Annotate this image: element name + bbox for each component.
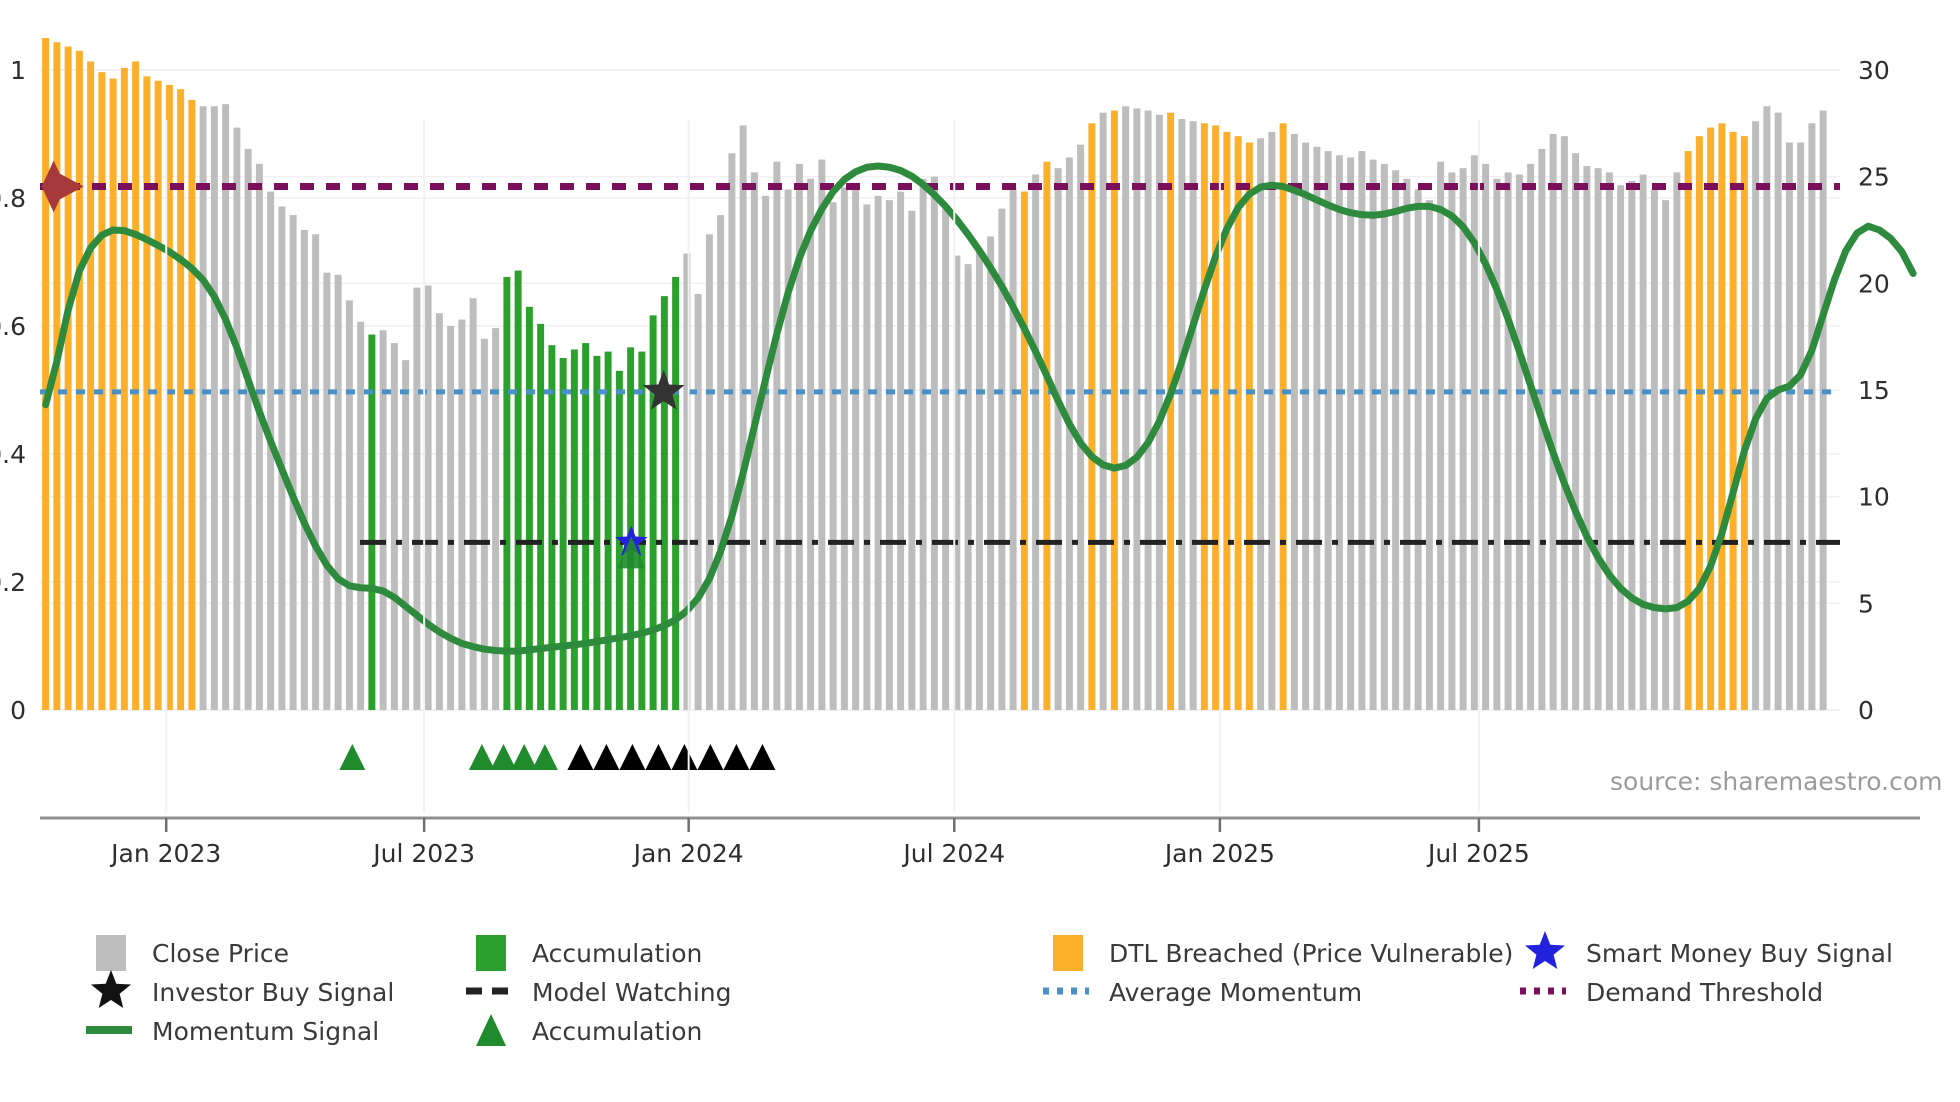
- table-row: [1212, 125, 1219, 710]
- table-row: [965, 264, 972, 710]
- price-bar: [1786, 143, 1793, 710]
- table-row: [1707, 128, 1714, 710]
- price-bar: [1707, 128, 1714, 710]
- price-bar: [1662, 200, 1669, 710]
- table-row: [346, 300, 353, 710]
- table-row: [155, 81, 162, 710]
- table-row: [515, 271, 522, 710]
- table-row: [1246, 143, 1253, 710]
- price-bar: [1516, 175, 1523, 710]
- price-bar: [1178, 119, 1185, 710]
- table-row: [785, 189, 792, 710]
- table-row: [121, 68, 128, 710]
- price-bar: [1381, 164, 1388, 710]
- table-row: [1437, 162, 1444, 710]
- price-bar: [391, 343, 398, 710]
- legend-item: Close Price: [96, 935, 289, 971]
- table-row: [1775, 113, 1782, 710]
- table-row: [1797, 143, 1804, 710]
- price-bar: [1235, 136, 1242, 710]
- table-row: [1100, 113, 1107, 710]
- price-bar: [1415, 189, 1422, 710]
- price-bar: [380, 330, 387, 710]
- table-row: [1178, 119, 1185, 710]
- price-bar: [1505, 172, 1512, 710]
- y-axis-tick-right: 5: [1858, 589, 1874, 618]
- price-bar: [312, 234, 319, 710]
- table-row: [1268, 132, 1275, 710]
- price-bar: [638, 352, 645, 710]
- price-bar: [503, 277, 510, 710]
- price-bar: [1313, 147, 1320, 710]
- legend-label: Accumulation: [532, 1017, 702, 1046]
- price-bar: [1043, 162, 1050, 710]
- y-axis-tick-left: 0.2: [0, 568, 26, 597]
- table-row: [1448, 172, 1455, 710]
- table-row: [1347, 157, 1354, 710]
- table-row: [245, 149, 252, 710]
- price-bar: [233, 128, 240, 710]
- table-row: [1190, 121, 1197, 710]
- price-bar: [1718, 123, 1725, 710]
- price-bar: [1595, 168, 1602, 710]
- price-bar: [436, 313, 443, 710]
- table-row: [1426, 200, 1433, 710]
- table-row: [773, 162, 780, 710]
- table-row: [1808, 123, 1815, 710]
- price-bar: [323, 273, 330, 710]
- table-row: [312, 234, 319, 710]
- price-bar: [1133, 108, 1140, 710]
- table-row: [425, 285, 432, 710]
- table-row: [1055, 168, 1062, 710]
- y-axis-tick-right: 30: [1858, 56, 1890, 85]
- table-row: [1696, 136, 1703, 710]
- price-bar: [548, 345, 555, 710]
- table-row: [706, 234, 713, 710]
- x-axis-tick-label: Jan 2025: [1163, 839, 1275, 868]
- table-row: [1291, 134, 1298, 710]
- table-row: [841, 187, 848, 710]
- table-row: [1516, 175, 1523, 710]
- legend-label: Demand Threshold: [1586, 978, 1823, 1007]
- table-row: [728, 153, 735, 710]
- table-row: [1595, 168, 1602, 710]
- table-row: [1718, 123, 1725, 710]
- price-bar: [852, 183, 859, 710]
- price-bar: [256, 164, 263, 710]
- price-bar: [290, 215, 297, 710]
- y-axis-tick-right: 20: [1858, 269, 1890, 298]
- x-axis-tick-label: Jul 2025: [1426, 839, 1530, 868]
- price-bar: [695, 294, 702, 710]
- price-bar: [762, 196, 769, 710]
- price-bar: [1336, 155, 1343, 710]
- y-axis-tick-left: 0.8: [0, 184, 26, 213]
- table-row: [1010, 187, 1017, 710]
- table-row: [380, 330, 387, 710]
- legend-label: Smart Money Buy Signal: [1586, 939, 1893, 968]
- table-row: [1662, 200, 1669, 710]
- y-axis-tick-left: 1: [10, 56, 26, 85]
- price-bar: [1583, 166, 1590, 710]
- price-bar: [1280, 123, 1287, 710]
- price-bar: [425, 285, 432, 710]
- price-bar: [1201, 123, 1208, 710]
- table-row: [76, 51, 83, 710]
- x-axis-tick-label: Jan 2024: [632, 839, 744, 868]
- table-row: [357, 322, 364, 710]
- price-bar: [222, 104, 229, 710]
- legend-label: Accumulation: [532, 939, 702, 968]
- table-row: [920, 179, 927, 710]
- table-row: [886, 200, 893, 710]
- price-bar: [582, 343, 589, 710]
- table-row: [1493, 179, 1500, 710]
- price-bar: [1730, 132, 1737, 710]
- price-bar: [301, 230, 308, 710]
- price-bar: [1088, 123, 1095, 710]
- table-row: [200, 106, 207, 710]
- price-bar: [1010, 187, 1017, 710]
- price-bar: [875, 196, 882, 710]
- price-bar: [1111, 111, 1118, 710]
- price-bar: [1820, 111, 1827, 710]
- y-axis-tick-left: 0.4: [0, 440, 26, 469]
- price-bar: [1673, 172, 1680, 710]
- price-bar: [717, 215, 724, 710]
- table-row: [582, 343, 589, 710]
- table-row: [661, 296, 668, 710]
- table-row: [222, 104, 229, 710]
- table-row: [571, 349, 578, 710]
- table-row: [503, 277, 510, 710]
- price-bar: [155, 81, 162, 710]
- y-axis-tick-right: 15: [1858, 376, 1890, 405]
- price-bar: [357, 322, 364, 710]
- table-row: [447, 326, 454, 710]
- y-axis-tick-left: 0.6: [0, 312, 26, 341]
- price-bar: [1077, 145, 1084, 710]
- price-bar: [650, 315, 657, 710]
- table-row: [1482, 164, 1489, 710]
- price-bar: [335, 275, 342, 710]
- price-bar: [76, 51, 83, 710]
- x-axis-tick-label: Jul 2023: [371, 839, 475, 868]
- table-row: [391, 343, 398, 710]
- legend-label: DTL Breached (Price Vulnerable): [1109, 939, 1513, 968]
- price-bar: [1021, 192, 1028, 710]
- table-row: [605, 352, 612, 710]
- table-row: [717, 215, 724, 710]
- table-row: [1122, 106, 1129, 710]
- price-bar: [346, 300, 353, 710]
- price-bar: [1145, 111, 1152, 710]
- table-row: [807, 179, 814, 710]
- table-row: [987, 236, 994, 710]
- table-row: [1685, 151, 1692, 710]
- price-bar: [42, 38, 49, 710]
- price-bar: [593, 356, 600, 710]
- table-row: [42, 38, 49, 710]
- table-row: [177, 89, 184, 710]
- price-bar: [402, 360, 409, 710]
- price-bar: [1460, 168, 1467, 710]
- price-bar: [987, 236, 994, 710]
- price-bar: [886, 200, 893, 710]
- table-row: [1617, 185, 1624, 710]
- table-row: [1583, 166, 1590, 710]
- price-bar: [1493, 179, 1500, 710]
- price-bar: [1685, 151, 1692, 710]
- table-row: [1077, 145, 1084, 710]
- table-row: [335, 275, 342, 710]
- price-bar: [1527, 164, 1534, 710]
- table-row: [132, 61, 139, 710]
- x-axis-tick-label: Jul 2024: [901, 839, 1005, 868]
- price-bar: [1246, 143, 1253, 710]
- price-bar: [1775, 113, 1782, 710]
- price-bar: [87, 61, 94, 710]
- chart-root: 00.20.40.60.81051015202530Jan 2023Jul 20…: [0, 0, 1960, 1102]
- price-bar: [1370, 160, 1377, 710]
- table-row: [942, 207, 949, 710]
- price-bar: [458, 320, 465, 710]
- table-row: [762, 196, 769, 710]
- table-row: [1673, 172, 1680, 710]
- price-bar: [1347, 157, 1354, 710]
- price-bar: [1212, 125, 1219, 710]
- table-row: [481, 339, 488, 710]
- price-bar: [1325, 151, 1332, 710]
- table-row: [1786, 143, 1793, 710]
- table-row: [1572, 153, 1579, 710]
- price-bar: [1358, 151, 1365, 710]
- table-row: [1640, 175, 1647, 710]
- price-bar: [245, 149, 252, 710]
- table-row: [301, 230, 308, 710]
- table-row: [233, 128, 240, 710]
- table-row: [1325, 151, 1332, 710]
- source-attribution: source: sharemaestro.com: [1610, 767, 1943, 796]
- table-row: [1235, 136, 1242, 710]
- table-row: [1336, 155, 1343, 710]
- price-bar: [200, 106, 207, 710]
- legend-item: DTL Breached (Price Vulnerable): [1053, 935, 1513, 971]
- table-row: [65, 47, 72, 710]
- price-bar: [672, 277, 679, 710]
- price-bar: [1426, 200, 1433, 710]
- price-bar: [1628, 181, 1635, 710]
- price-bar: [818, 160, 825, 710]
- price-bar: [481, 339, 488, 710]
- price-bar: [807, 179, 814, 710]
- price-bar: [706, 234, 713, 710]
- price-bar: [1550, 134, 1557, 710]
- table-row: [1370, 160, 1377, 710]
- price-bar: [841, 187, 848, 710]
- price-bar: [1640, 175, 1647, 710]
- table-row: [1313, 147, 1320, 710]
- legend-label: Momentum Signal: [152, 1017, 379, 1046]
- price-bar: [1437, 162, 1444, 710]
- table-row: [548, 345, 555, 710]
- table-row: [1403, 179, 1410, 710]
- y-axis-tick-left: 0: [10, 696, 26, 725]
- legend-square-icon: [476, 935, 506, 971]
- price-bar: [1100, 113, 1107, 710]
- price-bar: [605, 352, 612, 710]
- price-bar: [661, 296, 668, 710]
- price-bar: [965, 264, 972, 710]
- table-row: [672, 277, 679, 710]
- table-row: [1043, 162, 1050, 710]
- price-bar: [728, 153, 735, 710]
- table-row: [852, 183, 859, 710]
- price-bar: [1617, 185, 1624, 710]
- table-row: [1257, 138, 1264, 710]
- table-row: [256, 164, 263, 710]
- price-bar: [920, 179, 927, 710]
- y-axis-tick-right: 25: [1858, 163, 1890, 192]
- price-bar: [1257, 138, 1264, 710]
- x-axis-tick-label: Jan 2023: [109, 839, 221, 868]
- price-bar: [740, 125, 747, 710]
- price-bar: [1741, 136, 1748, 710]
- table-row: [188, 100, 195, 710]
- price-bar: [1167, 113, 1174, 710]
- price-bar: [1291, 134, 1298, 710]
- table-row: [560, 358, 567, 710]
- table-row: [740, 125, 747, 710]
- table-row: [1381, 164, 1388, 710]
- price-bar: [863, 204, 870, 710]
- table-row: [1358, 151, 1365, 710]
- table-row: [1167, 113, 1174, 710]
- table-row: [931, 177, 938, 710]
- price-bar: [1055, 168, 1062, 710]
- price-bar: [188, 100, 195, 710]
- table-row: [1280, 123, 1287, 710]
- table-row: [1111, 111, 1118, 710]
- table-row: [1606, 172, 1613, 710]
- table-row: [1505, 172, 1512, 710]
- table-row: [1460, 168, 1467, 710]
- price-bar: [976, 251, 983, 710]
- price-bar: [1403, 179, 1410, 710]
- table-row: [1550, 134, 1557, 710]
- price-bar: [1696, 136, 1703, 710]
- legend-label: Average Momentum: [1109, 978, 1362, 1007]
- price-bar: [211, 106, 218, 710]
- table-row: [1561, 136, 1568, 710]
- price-bar: [1808, 123, 1815, 710]
- price-bar: [942, 207, 949, 710]
- price-bar: [1482, 164, 1489, 710]
- legend-label: Investor Buy Signal: [152, 978, 394, 1007]
- table-row: [863, 204, 870, 710]
- table-row: [402, 360, 409, 710]
- price-bar: [1032, 175, 1039, 710]
- table-row: [1628, 181, 1635, 710]
- table-row: [875, 196, 882, 710]
- table-row: [1201, 123, 1208, 710]
- table-row: [87, 61, 94, 710]
- table-row: [1032, 175, 1039, 710]
- price-bar: [121, 68, 128, 710]
- table-row: [818, 160, 825, 710]
- legend-square-icon: [1053, 935, 1083, 971]
- table-row: [413, 288, 420, 710]
- price-bar: [132, 61, 139, 710]
- table-row: [908, 211, 915, 710]
- table-row: [323, 273, 330, 710]
- legend-square-icon: [96, 935, 126, 971]
- price-bar: [773, 162, 780, 710]
- table-row: [1088, 123, 1095, 710]
- financial-chart: 00.20.40.60.81051015202530Jan 2023Jul 20…: [0, 0, 1960, 1102]
- price-bar: [1561, 136, 1568, 710]
- price-bar: [1122, 106, 1129, 710]
- y-axis-tick-right: 0: [1858, 696, 1874, 725]
- table-row: [1651, 189, 1658, 710]
- table-row: [1730, 132, 1737, 710]
- table-row: [1302, 143, 1309, 710]
- price-bar: [908, 211, 915, 710]
- table-row: [458, 320, 465, 710]
- price-bar: [1572, 153, 1579, 710]
- table-row: [1021, 192, 1028, 710]
- table-row: [638, 352, 645, 710]
- price-bar: [931, 177, 938, 710]
- table-row: [211, 106, 218, 710]
- table-row: [1133, 108, 1140, 710]
- table-row: [1415, 189, 1422, 710]
- price-bar: [897, 192, 904, 710]
- table-row: [1392, 170, 1399, 710]
- table-row: [650, 315, 657, 710]
- table-row: [1741, 136, 1748, 710]
- table-row: [1145, 111, 1152, 710]
- table-row: [290, 215, 297, 710]
- price-bar: [1392, 170, 1399, 710]
- legend-label: Model Watching: [532, 978, 732, 1007]
- price-bar: [515, 271, 522, 710]
- table-row: [436, 313, 443, 710]
- legend-label: Close Price: [152, 939, 289, 968]
- price-bar: [177, 89, 184, 710]
- table-row: [1820, 111, 1827, 710]
- price-bar: [413, 288, 420, 710]
- price-bar: [1448, 172, 1455, 710]
- table-row: [593, 356, 600, 710]
- price-bar: [65, 47, 72, 710]
- price-bar: [447, 326, 454, 710]
- table-row: [695, 294, 702, 710]
- table-row: [1527, 164, 1534, 710]
- price-bar: [1797, 143, 1804, 710]
- price-bar: [571, 349, 578, 710]
- price-bar: [560, 358, 567, 710]
- table-row: [830, 202, 837, 710]
- price-bar: [785, 189, 792, 710]
- table-row: [976, 251, 983, 710]
- price-bar: [830, 202, 837, 710]
- y-axis-tick-right: 10: [1858, 483, 1890, 512]
- price-bar: [1268, 132, 1275, 710]
- price-bar: [1606, 172, 1613, 710]
- price-bar: [1302, 143, 1309, 710]
